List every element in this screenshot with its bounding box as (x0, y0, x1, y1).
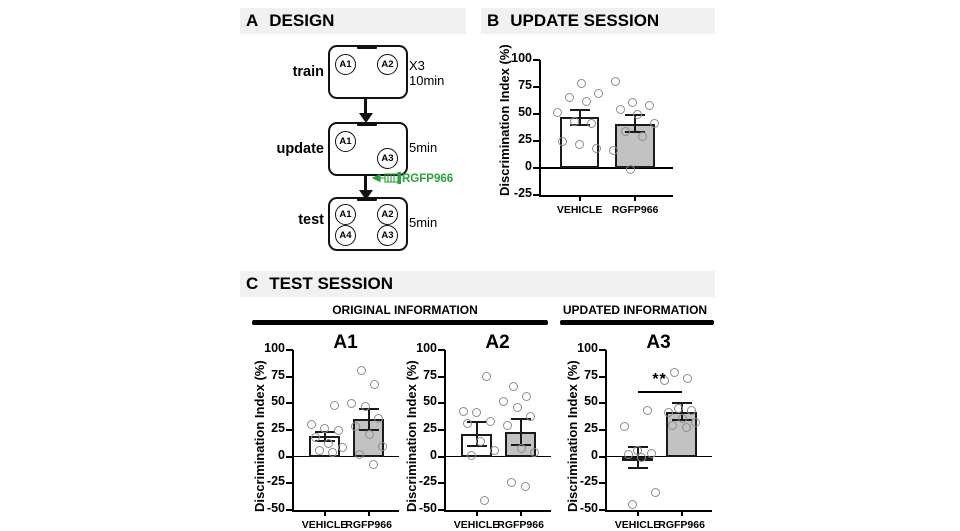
y-tick (533, 140, 540, 142)
data-point (643, 406, 652, 415)
y-tick (533, 194, 540, 196)
y-tick (533, 86, 540, 88)
panel-a-title: DESIGN (258, 11, 334, 31)
arena-update: A1 A3 (328, 122, 408, 176)
chart-test-a1: -50-250255075100VEHICLERGFP966 (293, 350, 398, 510)
data-point (620, 422, 629, 431)
y-tick-label: -50 (397, 501, 437, 515)
data-point (499, 397, 508, 406)
y-tick-label: 25 (492, 132, 532, 146)
y-tick (286, 376, 293, 378)
error-cap-bottom (628, 467, 648, 469)
y-tick-label: 25 (558, 421, 598, 435)
y-tick-label: 100 (492, 51, 532, 65)
y-tick-label: 50 (245, 394, 285, 408)
object-a1: A1 (335, 54, 356, 75)
data-point (521, 482, 530, 491)
x-tick (634, 195, 636, 201)
data-point (637, 453, 646, 462)
y-tick (438, 429, 445, 431)
data-point (378, 442, 387, 451)
error-cap-bottom (467, 445, 487, 447)
figure-root: A DESIGN B UPDATE SESSION C TEST SESSION… (0, 0, 960, 530)
y-tick (438, 402, 445, 404)
y-tick-label: 100 (397, 341, 437, 355)
y-tick-label: 25 (397, 421, 437, 435)
data-point (355, 450, 364, 459)
panel-c-title: TEST SESSION (258, 274, 393, 294)
data-point (509, 382, 518, 391)
object-a2: A2 (377, 54, 398, 75)
y-tick (286, 509, 293, 511)
y-tick-label: -25 (492, 186, 532, 200)
y-tick-label: -50 (245, 501, 285, 515)
x-tick (520, 510, 522, 516)
object-a1: A1 (335, 204, 356, 225)
data-point (575, 140, 584, 149)
x-tick (324, 510, 326, 516)
y-tick-label: 75 (492, 78, 532, 92)
panel-b-header: B UPDATE SESSION (481, 8, 715, 34)
data-point (467, 451, 476, 460)
y-tick (286, 482, 293, 484)
stage-label-test: test (258, 212, 324, 228)
y-tick (438, 482, 445, 484)
y-tick-label: 25 (245, 421, 285, 435)
y-tick-label: -25 (397, 474, 437, 488)
data-point (683, 374, 692, 383)
data-point (526, 412, 535, 421)
data-point (565, 93, 574, 102)
error-cap-top (672, 402, 692, 404)
panel-b-letter: B (481, 11, 499, 31)
data-point (347, 399, 356, 408)
data-point (647, 449, 656, 458)
x-tick (476, 510, 478, 516)
x-tick-label-rgfp966: RGFP966 (327, 519, 411, 531)
data-point (621, 127, 630, 136)
data-point (315, 446, 324, 455)
y-axis-label-update-session: Discrimination Index (%) (497, 44, 512, 196)
y-tick (599, 482, 606, 484)
data-point (577, 79, 586, 88)
y-tick-label: 100 (245, 341, 285, 355)
y-tick-label: -25 (245, 474, 285, 488)
data-point (616, 105, 625, 114)
arena-cue-icon (357, 122, 377, 126)
data-point (626, 165, 635, 174)
data-point (674, 404, 683, 413)
data-point (645, 101, 654, 110)
data-point (517, 444, 526, 453)
y-tick (286, 429, 293, 431)
x-tick (681, 510, 683, 516)
y-tick-label: 75 (245, 368, 285, 382)
arena-cue-icon (357, 45, 377, 49)
data-point (486, 417, 495, 426)
significance-bar (638, 391, 682, 393)
data-point (507, 478, 516, 487)
y-tick (599, 509, 606, 511)
stage-label-train: train (258, 64, 324, 80)
data-point (611, 77, 620, 86)
data-point (522, 392, 531, 401)
section-caption-updated: UPDATED INFORMATION (555, 303, 715, 317)
x-tick-label-rgfp966: RGFP966 (593, 204, 677, 216)
update-note-line1: 5min (409, 140, 437, 155)
syringe-icon (371, 171, 404, 185)
data-point (592, 144, 601, 153)
data-point (330, 401, 339, 410)
error-bar-rgfp966 (368, 408, 370, 431)
x-tick (637, 510, 639, 516)
section-rule-original (252, 320, 548, 325)
y-tick (533, 113, 540, 115)
y-tick (438, 349, 445, 351)
object-a1: A1 (335, 131, 356, 152)
y-tick-label: 0 (558, 448, 598, 462)
data-point (472, 408, 481, 417)
data-point (307, 420, 316, 429)
y-tick (599, 376, 606, 378)
object-a3: A3 (377, 225, 398, 246)
data-point (334, 426, 343, 435)
data-point (633, 110, 642, 119)
data-point (365, 430, 374, 439)
object-a3: A3 (377, 148, 398, 169)
data-point (628, 500, 637, 509)
test-note: 5min (409, 215, 437, 230)
data-point (463, 419, 472, 428)
data-point (582, 97, 591, 106)
drug-label: RGFP966 (402, 173, 453, 185)
y-tick (438, 509, 445, 511)
data-point (357, 366, 366, 375)
panel-a-letter: A (240, 11, 258, 31)
chart-update-session: -250255075100VEHICLERGFP966 (540, 60, 672, 195)
stage-label-update: update (248, 141, 324, 157)
y-tick (533, 59, 540, 61)
y-tick-label: 75 (397, 368, 437, 382)
panel-a-header: A DESIGN (240, 8, 466, 34)
arena-test: A1 A2 A4 A3 (328, 197, 408, 251)
y-tick (599, 402, 606, 404)
x-tick-label-rgfp966: RGFP966 (640, 519, 724, 531)
arena-cue-icon (357, 197, 377, 201)
data-point (480, 496, 489, 505)
x-tick-label-rgfp966: RGFP966 (479, 519, 563, 531)
data-point (558, 137, 567, 146)
data-point (490, 446, 499, 455)
x-tick (579, 195, 581, 201)
train-note-line2: 10min (409, 73, 444, 88)
y-tick (286, 402, 293, 404)
y-tick-label: 75 (558, 368, 598, 382)
data-point (651, 488, 660, 497)
data-point (311, 433, 320, 442)
x-axis (539, 195, 673, 197)
data-point (594, 89, 603, 98)
panel-b-title: UPDATE SESSION (499, 11, 659, 31)
section-rule-updated (560, 320, 714, 325)
y-tick-label: -50 (558, 501, 598, 515)
y-tick-label: -25 (558, 474, 598, 488)
chart-test-a3: -50-250255075100VEHICLERGFP966** (606, 350, 711, 510)
y-tick-label: 0 (245, 448, 285, 462)
error-bar-rgfp966 (520, 418, 522, 446)
data-point (370, 380, 379, 389)
data-point (374, 414, 383, 423)
arena-train: A1 A2 (328, 45, 408, 99)
y-tick (599, 349, 606, 351)
object-a4: A4 (335, 225, 356, 246)
y-tick (438, 376, 445, 378)
x-tick (368, 510, 370, 516)
train-note-line1: X3 (409, 58, 444, 73)
train-note: X3 10min (409, 58, 444, 88)
data-point (369, 460, 378, 469)
y-tick-label: 0 (397, 448, 437, 462)
y-tick-label: 100 (558, 341, 598, 355)
data-point (338, 443, 347, 452)
panel-c-letter: C (240, 274, 258, 294)
y-tick (599, 429, 606, 431)
y-axis-label-test-a1: Discrimination Index (%) (252, 360, 267, 512)
y-axis (539, 60, 541, 195)
data-point (513, 403, 522, 412)
test-note-line1: 5min (409, 215, 437, 230)
data-point (650, 119, 659, 128)
y-tick (286, 349, 293, 351)
significance-label: ** (638, 371, 682, 389)
y-tick-label: 50 (492, 105, 532, 119)
data-point (459, 407, 468, 416)
data-point (553, 108, 562, 117)
object-a2: A2 (377, 204, 398, 225)
data-point (503, 421, 512, 430)
data-point (361, 402, 370, 411)
y-axis-label-test-a3: Discrimination Index (%) (565, 360, 580, 512)
data-point (628, 98, 637, 107)
y-axis-label-test-a2: Discrimination Index (%) (404, 360, 419, 512)
data-point (482, 372, 491, 381)
chart-test-a2: -50-250255075100VEHICLERGFP966 (445, 350, 550, 510)
data-point (638, 132, 647, 141)
y-tick-label: 50 (397, 394, 437, 408)
data-point (624, 450, 633, 459)
data-point (691, 418, 700, 427)
section-caption-original: ORIGINAL INFORMATION (255, 303, 555, 317)
y-tick-label: 50 (558, 394, 598, 408)
x-axis (292, 510, 399, 512)
error-cap-top (570, 109, 590, 111)
x-axis (605, 510, 712, 512)
y-tick-label: 0 (492, 159, 532, 173)
x-axis (444, 510, 551, 512)
data-point (678, 414, 687, 423)
panel-c-header: C TEST SESSION (240, 271, 715, 297)
update-note: 5min (409, 140, 437, 155)
